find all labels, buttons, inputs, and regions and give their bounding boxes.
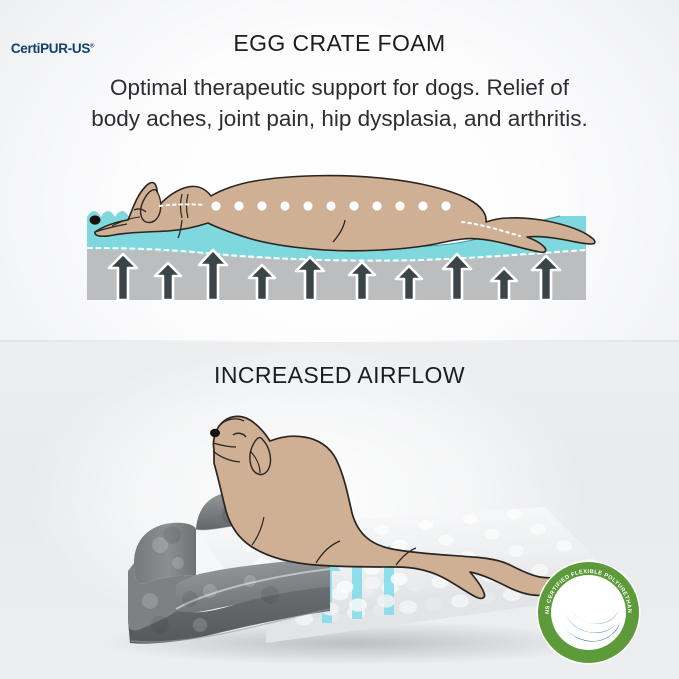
dog-nose-2 xyxy=(210,429,220,437)
panel1-illustration xyxy=(0,150,679,330)
panel1-title: EGG CRATE FOAM xyxy=(0,28,679,58)
product-infographic: EGG CRATE FOAM Optimal therapeutic suppo… xyxy=(0,0,679,679)
panel1-subtitle: Optimal therapeutic support for dogs. Re… xyxy=(0,72,679,134)
panel1-text-block: EGG CRATE FOAM Optimal therapeutic suppo… xyxy=(0,28,679,134)
panel2-title: INCREASED AIRFLOW xyxy=(0,362,679,389)
certipur-us-badge: CONTAINS CERTIFIED FLEXIBLE POLYURETHANE… xyxy=(536,560,641,665)
panel2-title-block: INCREASED AIRFLOW xyxy=(0,362,679,389)
dog-nose xyxy=(90,215,101,224)
panel1-subtitle-line-2: body aches, joint pain, hip dysplasia, a… xyxy=(0,103,679,134)
panel1-subtitle-line-1: Optimal therapeutic support for dogs. Re… xyxy=(0,72,679,103)
